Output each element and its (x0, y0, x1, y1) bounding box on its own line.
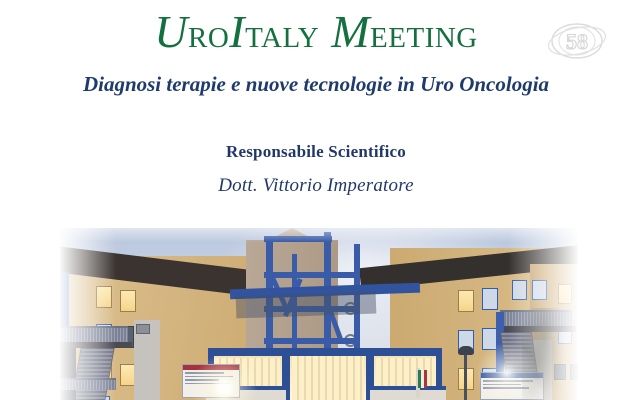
window (458, 290, 474, 312)
window (136, 324, 150, 334)
title-row: UroItalyMeeting 58 (0, 6, 632, 62)
window (532, 280, 547, 300)
scientific-director-label: Responsabile Scientifico (0, 140, 632, 164)
window (482, 288, 498, 310)
poster-page: UroItalyMeeting 58 Diagnosi terapie e nu… (0, 0, 632, 400)
title-caps-taly: taly (245, 10, 319, 56)
steel-beam (264, 338, 360, 344)
venue-photo (60, 228, 578, 400)
window (96, 286, 112, 308)
page-title: UroItalyMeeting (0, 6, 632, 59)
window (120, 290, 136, 312)
window (512, 280, 527, 300)
credits-block: Responsabile Scientifico Dott. Vittorio … (0, 140, 632, 201)
glass-bay (292, 354, 364, 400)
stairwell-shadow (60, 348, 76, 400)
sign-line (483, 384, 521, 386)
58-anniversary-logo-icon: 58 (546, 16, 608, 66)
sign-line (185, 379, 219, 381)
sign-line (185, 383, 229, 385)
sign-line (185, 372, 224, 374)
title-caps-eeting: eeting (370, 10, 478, 56)
entrance-header (208, 348, 442, 356)
sign-header (183, 365, 239, 370)
lamp-head (458, 346, 474, 355)
title-swash-m: M (331, 6, 370, 57)
italian-flag (418, 370, 427, 388)
venue-photo-image (60, 228, 578, 400)
scientific-director-name: Dott. Vittorio Imperatore (0, 171, 632, 201)
parapet-rail (370, 386, 446, 390)
title-swash-u: U (154, 6, 188, 57)
steel-beam (264, 272, 360, 278)
information-signboard (182, 364, 240, 398)
window (570, 364, 578, 380)
window (558, 284, 572, 304)
title-caps-ro: ro (188, 10, 229, 56)
subtitle: Diagnosi terapie e nuove tecnologie in U… (0, 70, 632, 98)
lamp-post (464, 352, 467, 400)
balcony-railing (60, 326, 128, 342)
title-swash-i: I (229, 6, 245, 57)
sign-line (185, 376, 233, 378)
tree-silhouette (522, 308, 568, 400)
steel-beam (264, 236, 332, 242)
stair-railing (60, 378, 116, 390)
logo-number-text: 58 (566, 29, 588, 54)
